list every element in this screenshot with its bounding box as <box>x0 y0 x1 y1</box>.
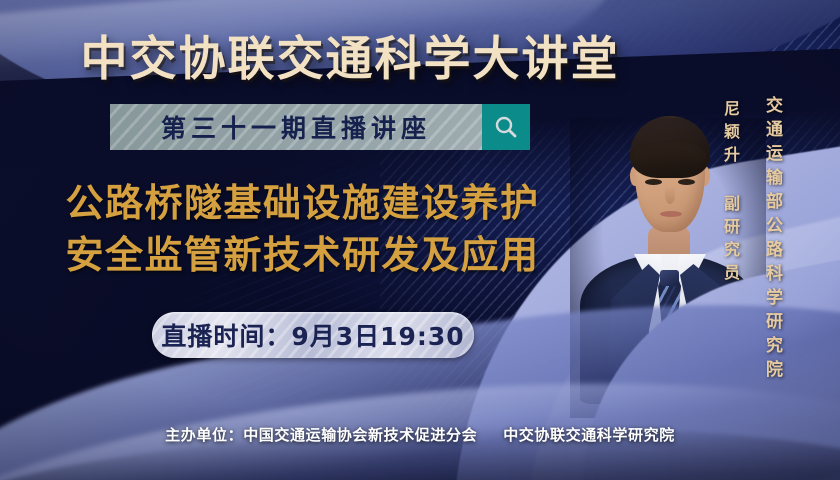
speaker-name-and-title: 尼颖升 副研究员 <box>718 100 742 287</box>
footer-organizers: 主办单位：中国交通运输协会新技术促进分会中交协联交通科学研究院 <box>0 424 840 445</box>
search-icon-button[interactable] <box>482 104 530 150</box>
portrait-nose <box>665 186 675 204</box>
footer-organizer-1: 中国交通运输协会新技术促进分会 <box>243 426 477 444</box>
portrait-necktie-knot <box>660 270 679 286</box>
footer-organizer-2: 中交协联交通科学研究院 <box>503 426 675 444</box>
portrait-eye-left <box>645 179 662 185</box>
session-banner-body: 第三十一期直播讲座 <box>110 104 482 150</box>
portrait-mouth <box>660 211 682 217</box>
speaker-organization: 交通运输部公路科学研究院 <box>760 96 785 384</box>
session-banner: 第三十一期直播讲座 <box>110 104 530 150</box>
lecture-title-line-2: 安全监管新技术研发及应用 <box>30 230 575 282</box>
footer-organizer-label: 主办单位： <box>165 426 243 444</box>
page-title: 中交协联交通科学大讲堂 <box>0 20 700 89</box>
lecture-title: 公路桥隧基础设施建设养护 安全监管新技术研发及应用 <box>30 178 575 281</box>
broadcast-time-badge: 直播时间：9月3日19:30 <box>152 312 474 358</box>
search-icon <box>493 114 519 140</box>
broadcast-time-text: 直播时间：9月3日19:30 <box>161 317 464 353</box>
live-lecture-poster: 中交协联交通科学大讲堂 第三十一期直播讲座 公路桥隧基础设施建设养护 安全监管新… <box>0 0 840 480</box>
session-label: 第三十一期直播讲座 <box>161 109 431 145</box>
portrait-eye-right <box>678 179 695 185</box>
lecture-title-line-1: 公路桥隧基础设施建设养护 <box>30 178 575 230</box>
